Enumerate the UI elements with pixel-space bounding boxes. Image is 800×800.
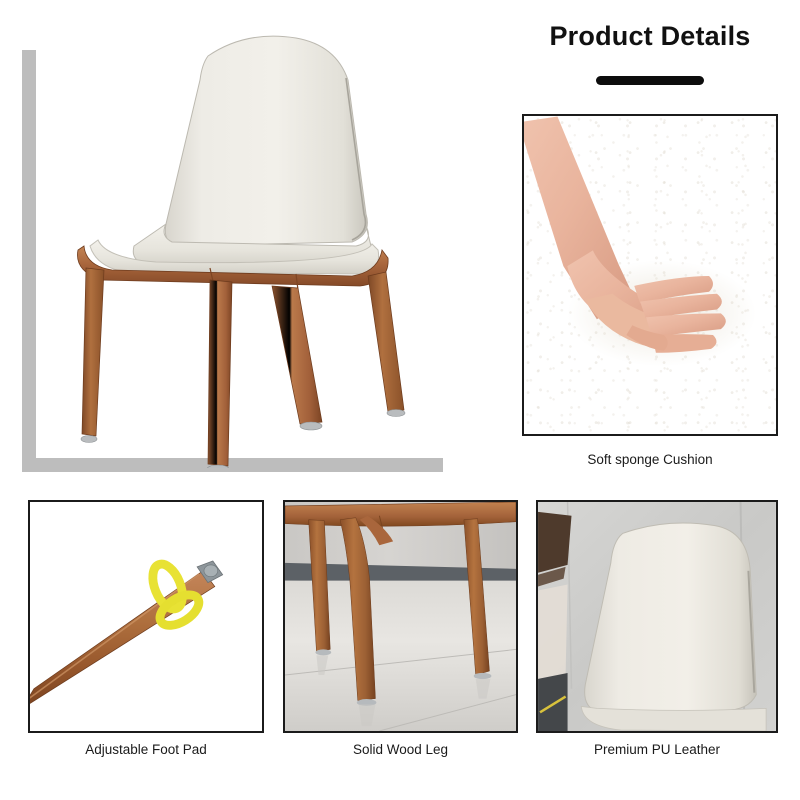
foot-pad-rear-left: [81, 436, 97, 443]
foot-pad-disc: [204, 565, 218, 577]
chair-backrest: [165, 36, 367, 246]
foot-pad-front-right: [300, 422, 322, 430]
background-dark-furniture: [538, 512, 571, 573]
caption-footpad: Adjustable Foot Pad: [28, 742, 264, 758]
detail-photo-leather[interactable]: [536, 500, 778, 733]
hero-backdrop-vertical-bar: [22, 50, 36, 472]
page-header: Product Details: [500, 22, 800, 85]
page-title: Product Details: [500, 22, 800, 52]
background-dark-cushion: [538, 673, 567, 731]
caption-leather: Premium PU Leather: [536, 742, 778, 758]
detail-photo-sponge[interactable]: [522, 114, 778, 436]
pu-leather-backrest-closeup: [538, 502, 776, 731]
detail-photo-footpad[interactable]: [28, 500, 264, 733]
caption-woodleg: Solid Wood Leg: [283, 742, 518, 758]
background-pale-object: [538, 585, 567, 681]
leg-right-foot-pad: [474, 673, 492, 679]
detail-photo-woodleg[interactable]: [283, 500, 518, 733]
chair-leg-front-right: [272, 286, 322, 424]
hero-chair-image: [60, 18, 440, 468]
chair-leg-front-left: [208, 280, 232, 466]
chair-leg-rear-left: [82, 268, 104, 436]
caption-sponge: Soft sponge Cushion: [522, 452, 778, 468]
chair-leg-rear-right: [368, 272, 404, 412]
foot-pad-rear-right: [387, 410, 405, 417]
chair-leg-with-footpad: [30, 502, 262, 731]
title-underline-bar: [596, 76, 704, 85]
solid-wood-legs-scene: [285, 502, 516, 731]
leg-left-foot-pad: [315, 649, 331, 655]
hand-pressing-foam: [524, 116, 776, 434]
leather-seat-edge: [581, 706, 766, 731]
